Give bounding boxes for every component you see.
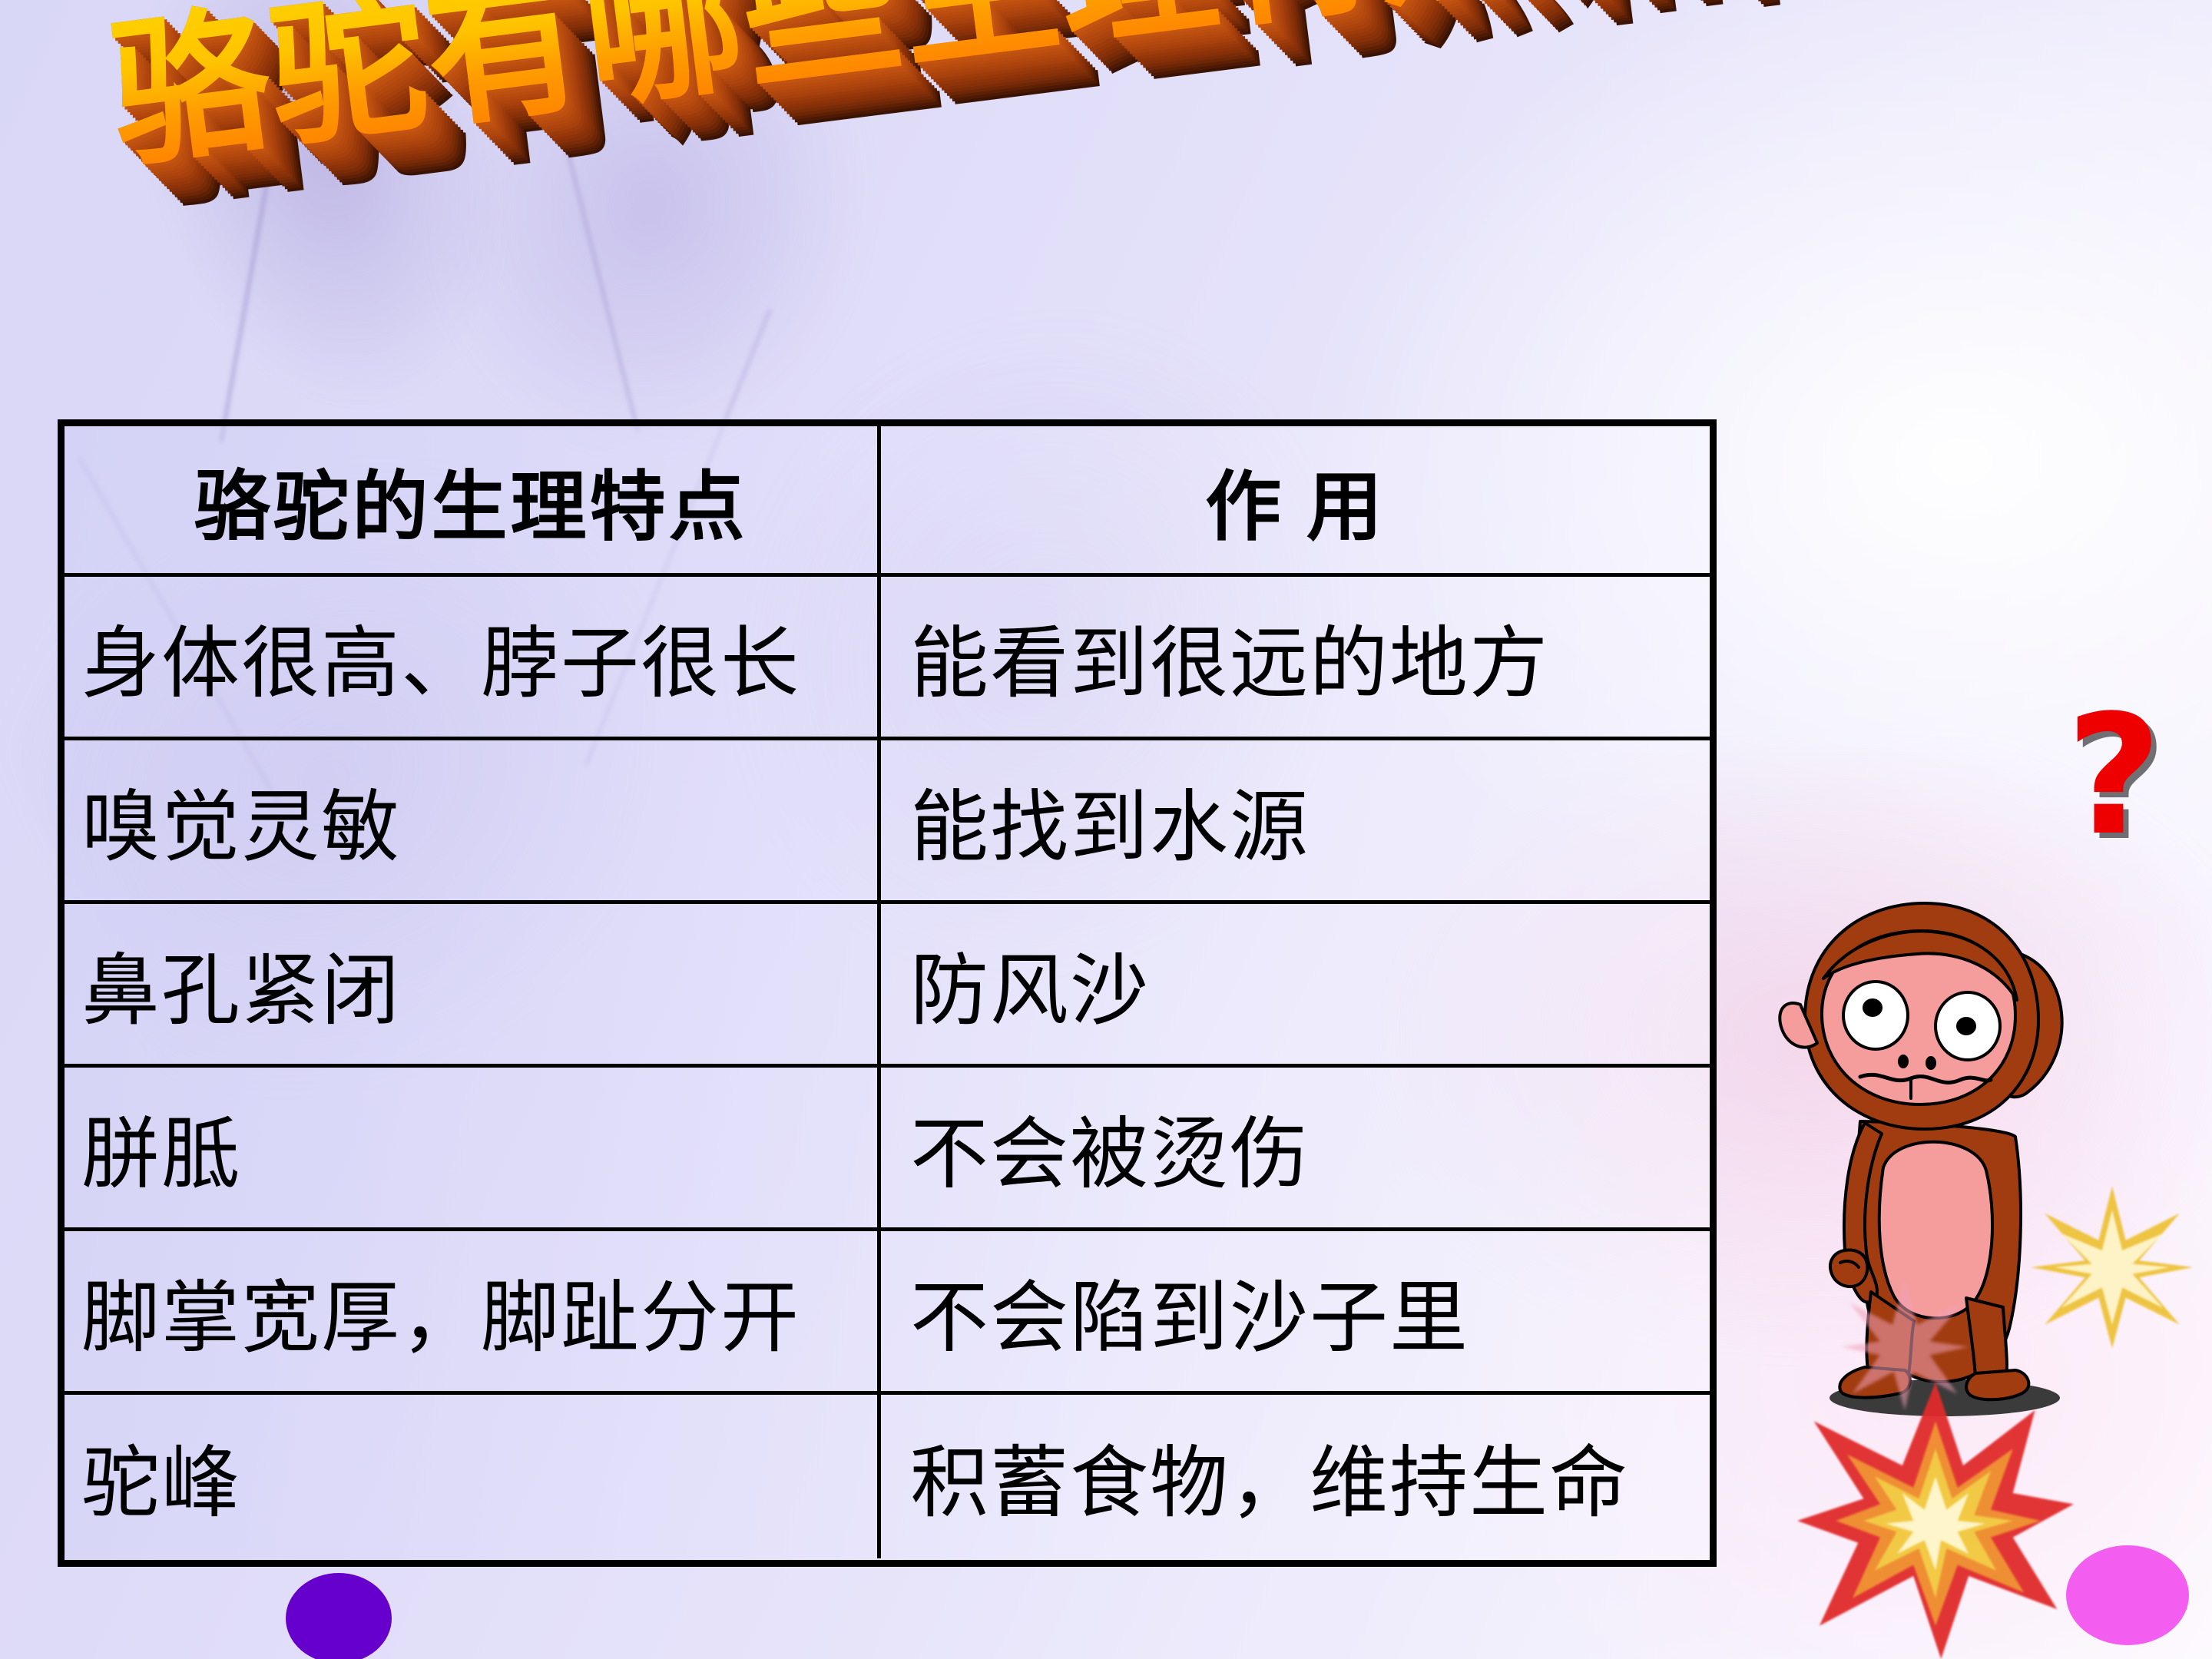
table-cell-function: 不会被烫伤 [881, 1068, 1710, 1227]
slide-title-face: 骆驼有哪些生理特点和作用？ [101, 0, 1968, 191]
table-cell-feature: 鼻孔紧闭 [65, 904, 881, 1064]
table-row: 脚掌宽厚，脚趾分开 不会陷到沙子里 [65, 1231, 1710, 1395]
camel-traits-table: 骆驼的生理特点 作 用 身体很高、脖子很长 能看到很远的地方 嗅觉灵敏 能找到水… [58, 419, 1717, 1567]
cell-function-text: 不会被烫伤 [881, 1091, 1310, 1204]
cell-function-text: 能找到水源 [881, 764, 1310, 877]
header-label-function: 作 用 [1205, 445, 1386, 555]
cell-feature-text: 胼胝 [65, 1091, 241, 1204]
cell-function-text: 不会陷到沙子里 [881, 1255, 1469, 1368]
table-cell-feature: 身体很高、脖子很长 [65, 577, 881, 737]
table-header-cell-feature: 骆驼的生理特点 [65, 426, 881, 573]
cell-function-text: 防风沙 [881, 928, 1150, 1041]
table-row: 身体很高、脖子很长 能看到很远的地方 [65, 577, 1710, 740]
table-header-cell-function: 作 用 [881, 426, 1710, 573]
table-row: 驼峰 积蓄食物，维持生命 [65, 1395, 1710, 1558]
header-label-feature: 骆驼的生理特点 [194, 445, 748, 555]
table-row: 鼻孔紧闭 防风沙 [65, 904, 1710, 1068]
table-cell-feature: 嗅觉灵敏 [65, 740, 881, 900]
explosion-burst-icon [1782, 1382, 2089, 1659]
cell-feature-text: 脚掌宽厚，脚趾分开 [65, 1255, 800, 1368]
purple-dot-decoration [286, 1573, 392, 1659]
table-row: 胼胝 不会被烫伤 [65, 1068, 1710, 1231]
table-row: 嗅觉灵敏 能找到水源 [65, 740, 1710, 904]
cell-function-text: 能看到很远的地方 [881, 601, 1549, 714]
table-cell-feature: 胼胝 [65, 1068, 881, 1227]
table-cell-function: 能看到很远的地方 [881, 577, 1710, 737]
pink-dot-decoration [2066, 1545, 2189, 1645]
cell-feature-text: 驼峰 [65, 1420, 241, 1533]
table-cell-feature: 脚掌宽厚，脚趾分开 [65, 1231, 881, 1391]
cell-feature-text: 鼻孔紧闭 [65, 928, 401, 1041]
table-cell-feature: 驼峰 [65, 1395, 881, 1558]
cell-feature-text: 嗅觉灵敏 [65, 764, 401, 877]
table-cell-function: 防风沙 [881, 904, 1710, 1064]
sparkle-burst-icon [2028, 1183, 2197, 1352]
cell-feature-text: 身体很高、脖子很长 [65, 601, 800, 714]
table-header-row: 骆驼的生理特点 作 用 [65, 426, 1710, 577]
cell-function-text: 积蓄食物，维持生命 [881, 1420, 1629, 1533]
slide-title: 骆驼有哪些生理特点和作用？ 骆驼有哪些生理特点和作用？ [101, 0, 1974, 237]
table-cell-function: 不会陷到沙子里 [881, 1231, 1710, 1391]
slide-canvas: 骆驼有哪些生理特点和作用？ 骆驼有哪些生理特点和作用？ 骆驼的生理特点 作 用 … [0, 0, 2212, 1659]
table-cell-function: 积蓄食物，维持生命 [881, 1395, 1710, 1558]
question-mark-icon: ? [2066, 695, 2181, 864]
table-cell-function: 能找到水源 [881, 740, 1710, 900]
